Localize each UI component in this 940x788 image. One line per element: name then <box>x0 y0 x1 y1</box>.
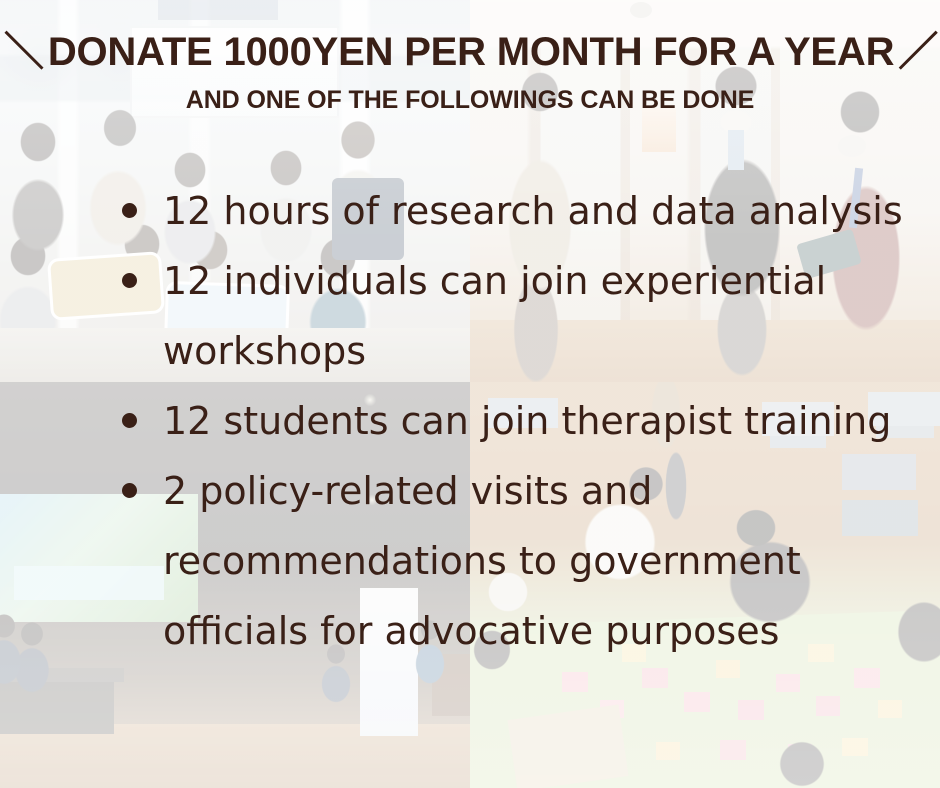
bullet-dot-icon <box>122 203 137 218</box>
headline-text: DONATE 1000YEN PER MONTH FOR A YEAR <box>48 30 894 74</box>
donation-impact-poster: ＼DONATE 1000YEN PER MONTH FOR A YEAR／ AN… <box>0 0 940 788</box>
text-content: ＼DONATE 1000YEN PER MONTH FOR A YEAR／ AN… <box>0 0 940 788</box>
headline-left-slash-mark: ＼ <box>0 30 48 74</box>
list-item: 2 policy-related visits and recommendati… <box>122 456 922 666</box>
list-item-label: 12 hours of research and data analysis <box>163 189 903 233</box>
bullet-dot-icon <box>122 273 137 288</box>
list-item-label: 12 students can join therapist training <box>163 399 891 443</box>
bullet-dot-icon <box>122 413 137 428</box>
list-item: 12 individuals can join experiential wor… <box>122 246 922 386</box>
subheadline: AND ONE OF THE FOLLOWINGS CAN BE DONE <box>0 88 940 113</box>
list-item: 12 hours of research and data analysis <box>122 176 922 246</box>
bullet-dot-icon <box>122 483 137 498</box>
headline-right-slash-mark: ／ <box>894 30 940 74</box>
list-item-label: 12 individuals can join experiential wor… <box>163 259 826 373</box>
headline: ＼DONATE 1000YEN PER MONTH FOR A YEAR／ <box>0 32 940 72</box>
list-item-label: 2 policy-related visits and recommendati… <box>163 469 801 653</box>
list-item: 12 students can join therapist training <box>122 386 922 456</box>
benefits-list: 12 hours of research and data analysis 1… <box>122 176 922 666</box>
